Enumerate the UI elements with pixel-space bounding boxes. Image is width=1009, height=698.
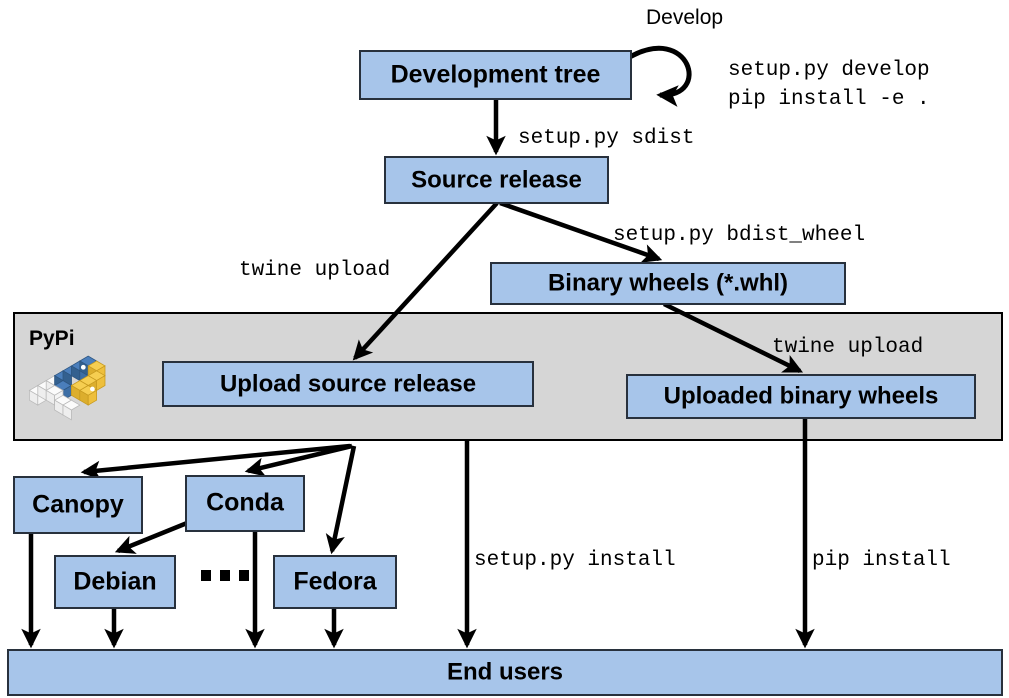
edge-develop-self-loop <box>628 48 689 95</box>
pypi-group-label: PyPi <box>29 327 75 350</box>
node-debian[interactable]: Debian <box>55 556 175 608</box>
diagram-canvas: PyPi <box>0 0 1009 698</box>
edge-label-pip-install: pip install <box>812 549 951 572</box>
node-fedora[interactable]: Fedora <box>274 556 396 608</box>
edge-label-setup-py-install: setup.py install <box>474 549 676 572</box>
node-development-tree[interactable]: Development tree <box>360 51 631 99</box>
edge-upload-source-to-canopy <box>84 446 350 472</box>
node-label-upload-source-release: Upload source release <box>220 370 476 397</box>
node-source-release[interactable]: Source release <box>385 157 608 203</box>
edge-label-twine-upload-wheels: twine upload <box>772 336 923 359</box>
node-label-binary-wheels: Binary wheels (*.whl) <box>548 269 788 296</box>
packaging-flow-diagram: PyPi <box>0 0 1009 698</box>
node-label-canopy: Canopy <box>32 491 124 519</box>
node-binary-wheels[interactable]: Binary wheels (*.whl) <box>491 263 845 304</box>
node-label-development-tree: Development tree <box>391 61 601 89</box>
edge-label-setup-py-develop: setup.py develop <box>728 59 930 82</box>
node-label-source-release: Source release <box>411 166 582 193</box>
node-end-users[interactable]: End users <box>8 650 1002 695</box>
edge-label-setup-py-bdist-wheel: setup.py bdist_wheel <box>613 224 865 247</box>
edge-upload-source-to-fedora <box>332 446 354 551</box>
edge-label-twine-upload-source: twine upload <box>239 259 390 282</box>
node-label-conda: Conda <box>206 489 285 517</box>
edge-label-setup-py-sdist: setup.py sdist <box>518 127 694 150</box>
node-label-fedora: Fedora <box>293 568 377 596</box>
node-canopy[interactable]: Canopy <box>14 477 142 533</box>
node-label-uploaded-binary-wheels: Uploaded binary wheels <box>664 382 939 409</box>
more-distros-ellipsis <box>201 570 249 581</box>
node-conda[interactable]: Conda <box>186 476 304 531</box>
node-upload-source-release[interactable]: Upload source release <box>163 362 533 406</box>
edge-label-pip-install-e: pip install -e . <box>728 88 930 111</box>
node-label-end-users: End users <box>447 658 563 685</box>
node-label-debian: Debian <box>73 568 156 596</box>
node-uploaded-binary-wheels[interactable]: Uploaded binary wheels <box>627 375 975 418</box>
edge-label-develop: Develop <box>646 6 723 29</box>
